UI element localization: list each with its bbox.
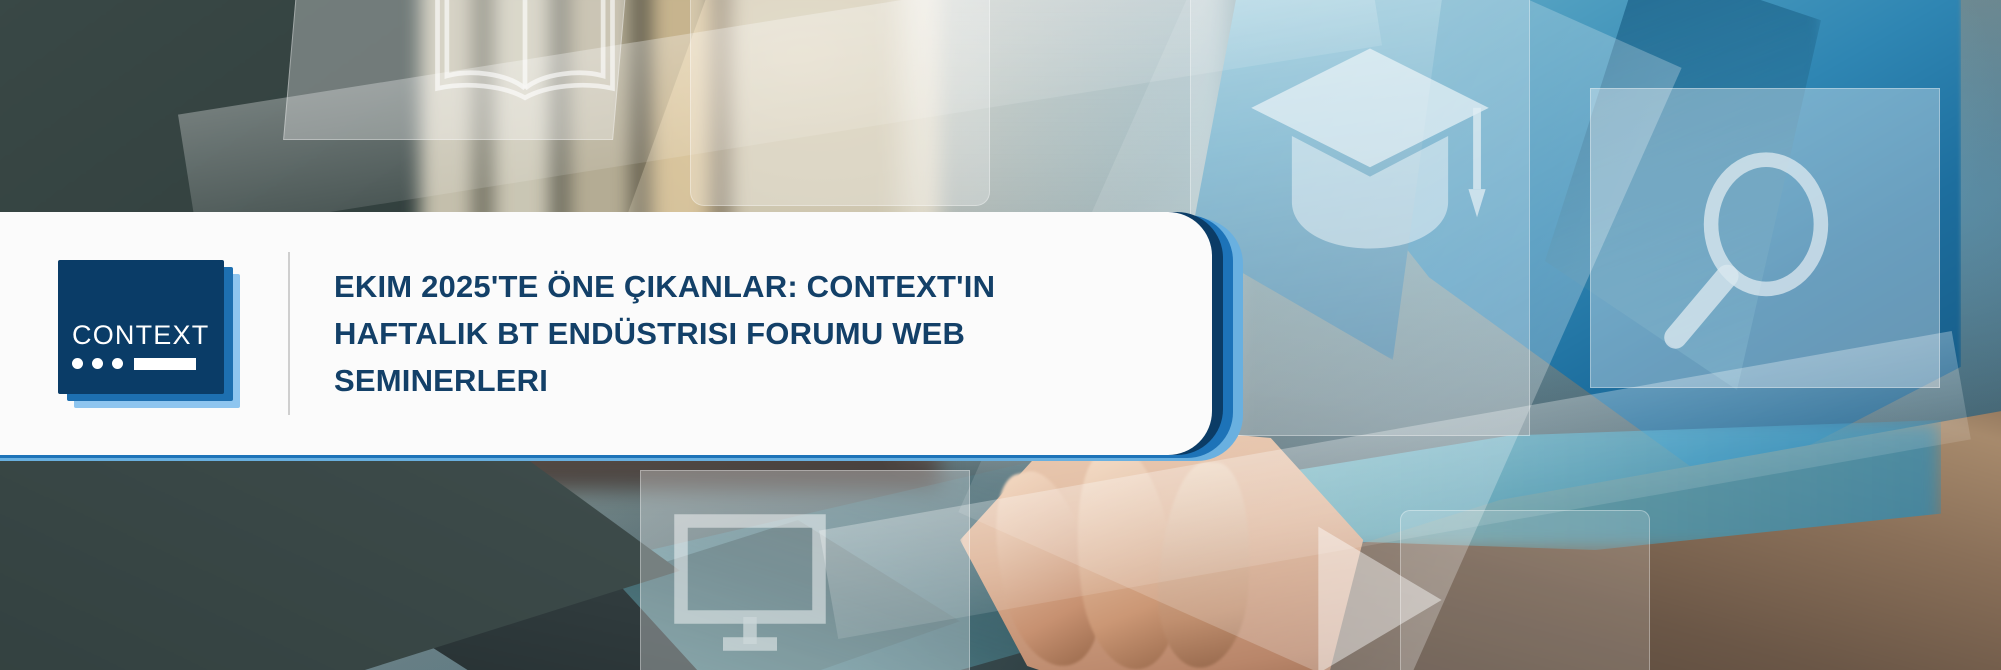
vertical-divider	[288, 252, 290, 415]
graduation-cap-icon	[1245, 30, 1495, 270]
banner: CONTEXT EKIM 2025'TE ÖNE ÇIKANLAR: CONTE…	[0, 0, 2001, 670]
play-button-icon	[1275, 500, 1475, 670]
magnifying-glass-icon	[1655, 150, 1835, 360]
headline-card: CONTEXT EKIM 2025'TE ÖNE ÇIKANLAR: CONTE…	[0, 212, 1212, 455]
logo-marks	[72, 358, 224, 370]
context-logo[interactable]: CONTEXT	[58, 260, 242, 408]
logo-dot-icon	[72, 358, 83, 369]
monitor-icon	[660, 500, 840, 670]
logo-dot-icon	[92, 358, 103, 369]
logo-content: CONTEXT	[58, 260, 224, 394]
logo-bar-icon	[134, 358, 196, 370]
card-surface: CONTEXT EKIM 2025'TE ÖNE ÇIKANLAR: CONTE…	[0, 212, 1212, 455]
logo-wordmark: CONTEXT	[72, 322, 224, 349]
page-title: EKIM 2025'TE ÖNE ÇIKANLAR: CONTEXT'IN HA…	[334, 263, 1094, 404]
logo-dot-icon	[112, 358, 123, 369]
book-icon	[430, 0, 620, 104]
